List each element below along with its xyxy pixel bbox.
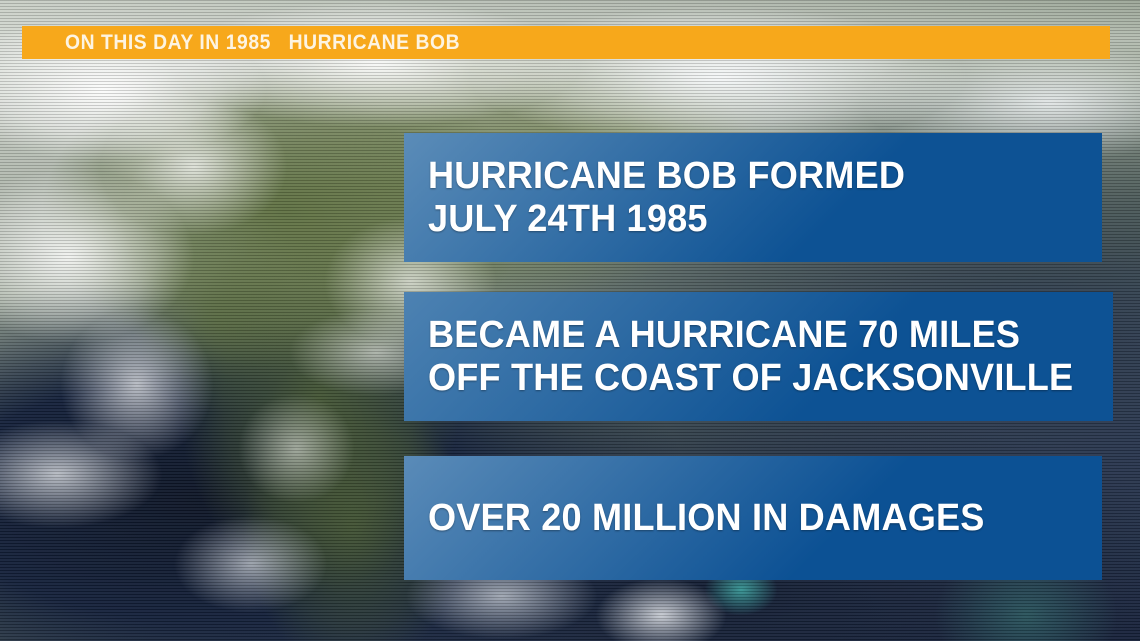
fact-panel-2-line-1: BECAME A HURRICANE 70 MILES — [428, 314, 1079, 357]
fact-panel-1: HURRICANE BOB FORMED JULY 24TH 1985 — [404, 133, 1102, 262]
headline-banner: ON THIS DAY IN 1985 HURRICANE BOB — [22, 26, 1110, 59]
fact-panel-1-line-1: HURRICANE BOB FORMED — [428, 155, 1068, 198]
fact-panel-1-line-2: JULY 24TH 1985 — [428, 198, 1068, 241]
headline-banner-text: ON THIS DAY IN 1985 HURRICANE BOB — [65, 32, 460, 53]
fact-panel-2-line-2: OFF THE COAST OF JACKSONVILLE — [428, 357, 1079, 400]
weather-graphic: ON THIS DAY IN 1985 HURRICANE BOB HURRIC… — [0, 0, 1140, 641]
fact-panel-3: OVER 20 MILLION IN DAMAGES — [404, 456, 1102, 580]
fact-panel-2: BECAME A HURRICANE 70 MILES OFF THE COAS… — [404, 292, 1113, 421]
fact-panel-3-line-1: OVER 20 MILLION IN DAMAGES — [428, 497, 1068, 540]
